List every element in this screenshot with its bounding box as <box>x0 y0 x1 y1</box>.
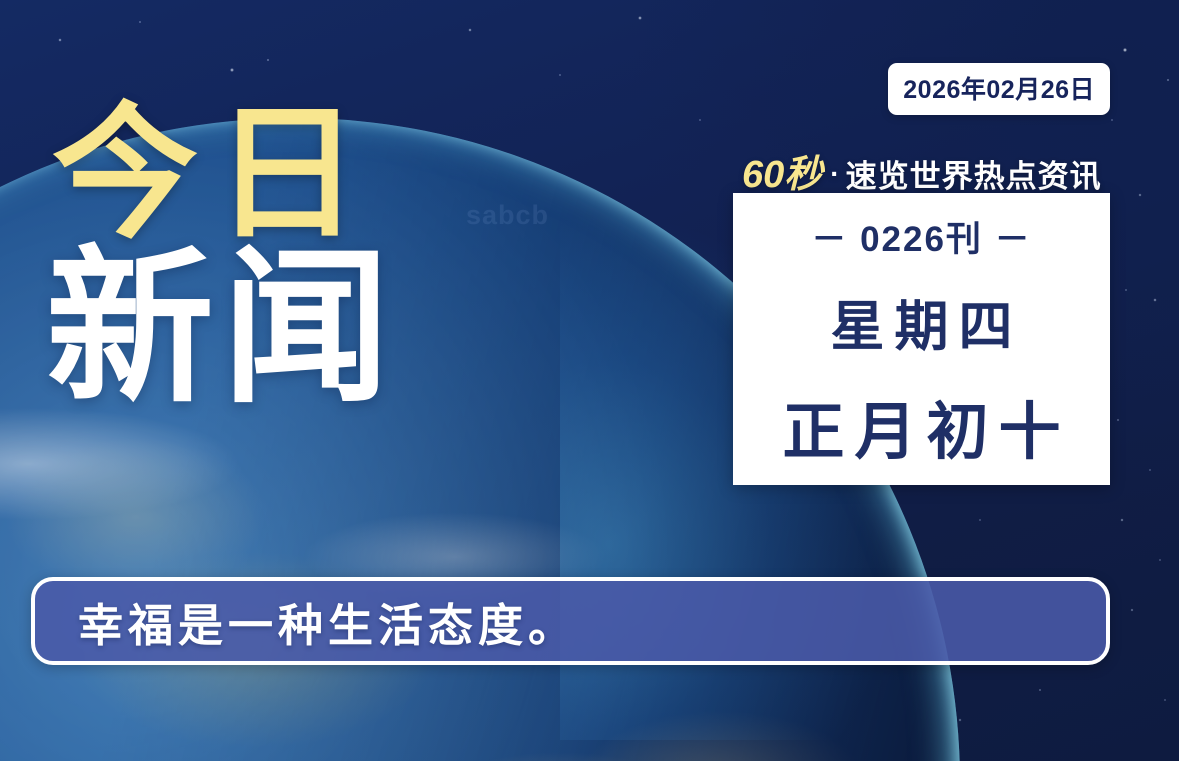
news-poster: sabcb 今日 新闻 2026年02月26日 60秒·速览世界热点资讯 － 0… <box>0 0 1179 761</box>
lunar-date-label: 正月初十 <box>772 381 1070 471</box>
date-badge: 2026年02月26日 <box>888 63 1110 115</box>
tagline: 60秒·速览世界热点资讯 <box>742 143 1102 198</box>
poster-title: 今日 新闻 <box>52 104 398 409</box>
tagline-seconds: 60秒 <box>742 154 822 196</box>
title-line-today: 今日 <box>52 104 398 244</box>
quote-text: 幸福是一种生活态度。 <box>78 589 578 654</box>
title-line-news: 新闻 <box>46 248 398 409</box>
tagline-separator: · <box>830 158 839 189</box>
weekday-label: 星期四 <box>821 282 1023 361</box>
watermark-text: sabcb <box>466 200 549 231</box>
quote-bar: 幸福是一种生活态度。 <box>31 577 1110 665</box>
tagline-description: 速览世界热点资讯 <box>846 159 1102 194</box>
issue-info-card: － 0226刊 － 星期四 正月初十 <box>733 193 1110 485</box>
issue-number: － 0226刊 － <box>811 211 1031 262</box>
